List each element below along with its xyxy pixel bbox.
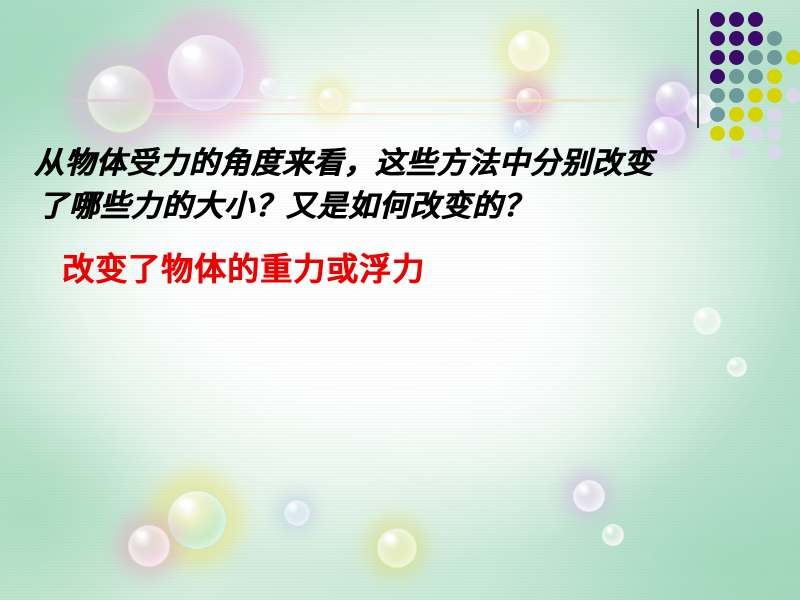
decoration-dot <box>710 88 725 103</box>
decoration-dot <box>729 126 744 141</box>
vertical-rule-decoration <box>697 9 699 128</box>
decoration-dot <box>767 69 782 84</box>
decoration-dot <box>767 107 782 122</box>
decoration-dot <box>710 31 725 46</box>
decoration-dot <box>710 126 725 141</box>
decoration-dot <box>767 31 782 46</box>
decoration-dot <box>710 107 725 122</box>
question-line-2: 了哪些力的大小？又是如何改变的？ <box>34 185 764 228</box>
decoration-dot <box>767 126 782 141</box>
divider-line-lower <box>96 113 656 115</box>
decoration-dot <box>710 12 725 27</box>
answer-text: 改变了物体的重力或浮力 <box>62 244 425 290</box>
decoration-dot <box>748 31 763 46</box>
question-line-1: 从物体受力的角度来看，这些方法中分别改变 <box>34 142 764 185</box>
decoration-dot <box>767 50 782 65</box>
decoration-dot <box>748 50 763 65</box>
decoration-dot <box>729 107 744 122</box>
decoration-dot <box>729 50 744 65</box>
decoration-dot <box>767 88 782 103</box>
decoration-dot <box>729 12 744 27</box>
decoration-dot <box>748 69 763 84</box>
decoration-dot <box>729 88 744 103</box>
decoration-dot <box>786 88 800 103</box>
decoration-dot <box>710 50 725 65</box>
decoration-dot <box>767 145 782 160</box>
decoration-dot <box>748 107 763 122</box>
divider-line-upper <box>58 99 678 102</box>
dot-grid-decoration <box>710 12 800 142</box>
decoration-dot <box>786 50 800 65</box>
slide-canvas: 从物体受力的角度来看，这些方法中分别改变 了哪些力的大小？又是如何改变的？ 改变… <box>0 0 800 600</box>
question-text: 从物体受力的角度来看，这些方法中分别改变 了哪些力的大小？又是如何改变的？ <box>34 142 764 228</box>
background-texture <box>0 0 800 600</box>
decoration-dot <box>729 31 744 46</box>
decoration-dot <box>748 12 763 27</box>
decoration-dot <box>729 69 744 84</box>
decoration-dot <box>710 69 725 84</box>
decoration-dot <box>748 88 763 103</box>
decoration-dot <box>748 126 763 141</box>
